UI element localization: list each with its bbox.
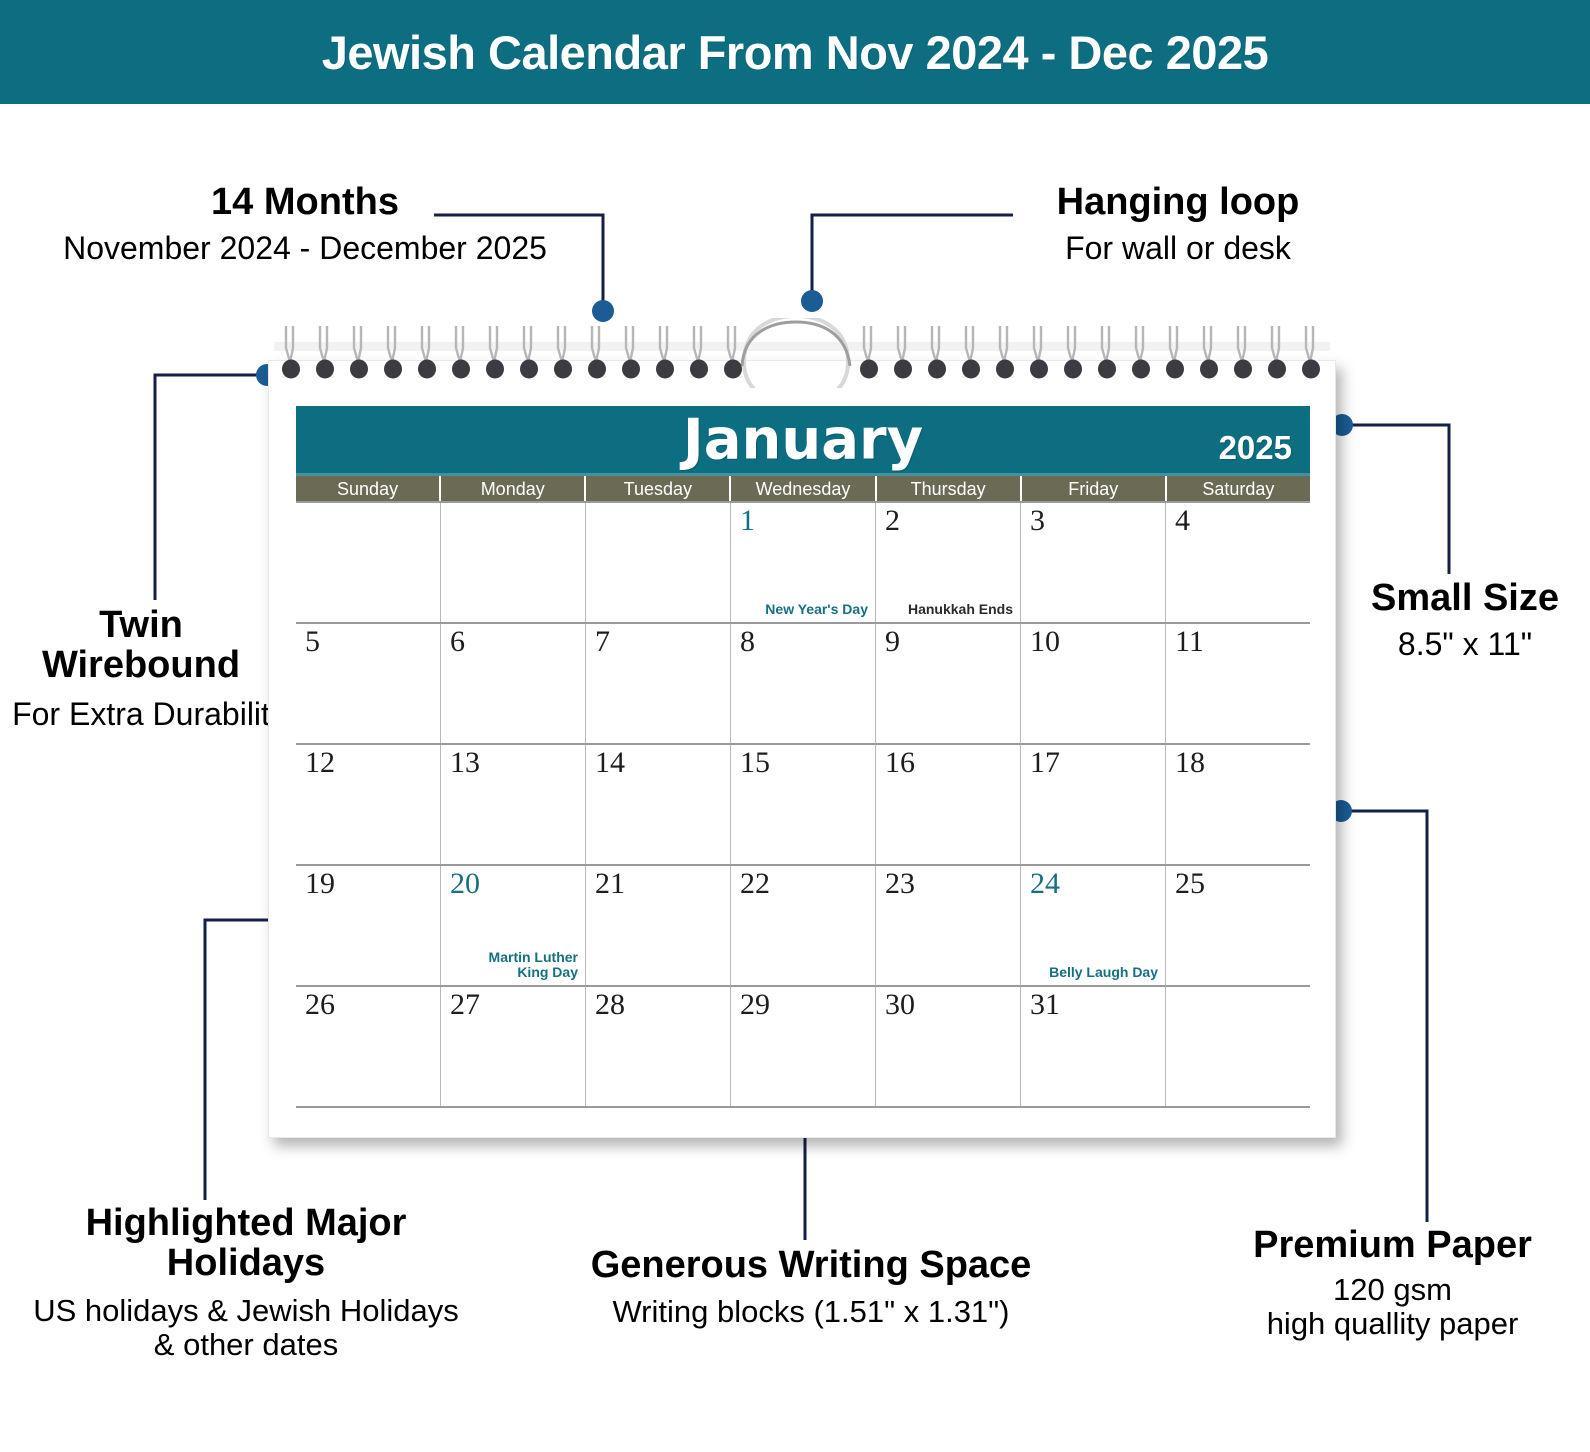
wire-ring-icon bbox=[860, 326, 878, 379]
calendar-day-cell-29[interactable]: 29 bbox=[731, 987, 876, 1106]
day-number: 16 bbox=[885, 748, 915, 778]
calendar-day-cell-13[interactable]: 13 bbox=[441, 745, 586, 864]
calendar-day-cell-empty[interactable] bbox=[586, 503, 731, 622]
day-number: 20 bbox=[450, 869, 480, 899]
wire-ring-icon bbox=[1268, 326, 1286, 379]
wire-ring-icon bbox=[962, 326, 980, 379]
wire-ring-icon bbox=[724, 326, 742, 379]
wire-ring-icon bbox=[588, 326, 606, 379]
wire-ring-icon bbox=[1302, 326, 1320, 379]
callout-hanging-loop-caption: Hanging loop bbox=[1018, 182, 1338, 222]
day-number: 26 bbox=[305, 990, 335, 1020]
callout-premium-paper-sub: 120 gsm high quallity paper bbox=[1195, 1273, 1590, 1341]
wire-ring-icon bbox=[1234, 326, 1252, 379]
calendar-day-cell-30[interactable]: 30 bbox=[876, 987, 1021, 1106]
calendar-day-cell-8[interactable]: 8 bbox=[731, 624, 876, 743]
calendar-day-cell-18[interactable]: 18 bbox=[1166, 745, 1310, 864]
wire-ring-icon bbox=[350, 326, 368, 379]
calendar-product: January 2025 SundayMondayTuesdayWednesda… bbox=[268, 318, 1336, 1138]
callout-highlighted-holidays-caption: Highlighted Major Holidays bbox=[0, 1203, 492, 1284]
day-number: 2 bbox=[885, 506, 900, 536]
callout-14-months-sub: November 2024 - December 2025 bbox=[10, 231, 600, 266]
calendar-day-cell-23[interactable]: 23 bbox=[876, 866, 1021, 985]
callout-hanging-loop-sub: For wall or desk bbox=[1018, 231, 1338, 266]
calendar-day-cell-26[interactable]: 26 bbox=[296, 987, 441, 1106]
day-number: 7 bbox=[595, 627, 610, 657]
callout-14-months: 14 Months November 2024 - December 2025 bbox=[10, 182, 600, 266]
calendar-day-cell-4[interactable]: 4 bbox=[1166, 503, 1310, 622]
calendar-day-cell-6[interactable]: 6 bbox=[441, 624, 586, 743]
day-number: 11 bbox=[1175, 627, 1204, 657]
calendar-year: 2025 bbox=[1219, 429, 1292, 467]
calendar-month-name: January bbox=[296, 407, 1310, 472]
day-number: 17 bbox=[1030, 748, 1060, 778]
wire-ring-icon bbox=[418, 326, 436, 379]
calendar-day-cell-empty[interactable] bbox=[441, 503, 586, 622]
calendar-day-cell-19[interactable]: 19 bbox=[296, 866, 441, 985]
leader-dot-loop bbox=[801, 290, 823, 312]
calendar-day-cell-11[interactable]: 11 bbox=[1166, 624, 1310, 743]
calendar-day-cell-1[interactable]: 1New Year's Day bbox=[731, 503, 876, 622]
weekday-header-thursday: Thursday bbox=[877, 476, 1022, 501]
hanging-loop-icon bbox=[742, 318, 850, 388]
wire-ring-icon bbox=[690, 326, 708, 379]
callout-twin-wirebound: Twin Wirebound For Extra Durabilit bbox=[0, 605, 282, 732]
wire-ring-icon bbox=[1030, 326, 1048, 379]
day-number: 4 bbox=[1175, 506, 1190, 536]
callout-writing-space-sub: Writing blocks (1.51" x 1.31") bbox=[525, 1295, 1097, 1329]
weekday-header-tuesday: Tuesday bbox=[586, 476, 731, 501]
day-number: 22 bbox=[740, 869, 770, 899]
twin-wire-binding bbox=[274, 318, 1330, 388]
calendar-day-cell-9[interactable]: 9 bbox=[876, 624, 1021, 743]
calendar-weekday-header: SundayMondayTuesdayWednesdayThursdayFrid… bbox=[296, 476, 1310, 501]
calendar-day-cell-16[interactable]: 16 bbox=[876, 745, 1021, 864]
callout-hanging-loop: Hanging loop For wall or desk bbox=[1018, 182, 1338, 266]
day-number: 8 bbox=[740, 627, 755, 657]
callout-small-size: Small Size 8.5" x 11" bbox=[1340, 578, 1590, 662]
weekday-header-wednesday: Wednesday bbox=[731, 476, 876, 501]
wire-ring-icon bbox=[316, 326, 334, 379]
calendar-day-cell-21[interactable]: 21 bbox=[586, 866, 731, 985]
day-event-label: Hanukkah Ends bbox=[881, 602, 1013, 618]
calendar-sheet: January 2025 SundayMondayTuesdayWednesda… bbox=[296, 406, 1310, 1118]
weekday-header-monday: Monday bbox=[441, 476, 586, 501]
calendar-day-cell-12[interactable]: 12 bbox=[296, 745, 441, 864]
day-number: 15 bbox=[740, 748, 770, 778]
callout-14-months-caption: 14 Months bbox=[10, 182, 600, 222]
day-number: 1 bbox=[740, 506, 755, 536]
weekday-header-friday: Friday bbox=[1022, 476, 1167, 501]
calendar-month-header: January 2025 bbox=[296, 406, 1310, 476]
day-number: 6 bbox=[450, 627, 465, 657]
wire-ring-icon bbox=[622, 326, 640, 379]
weekday-header-sunday: Sunday bbox=[296, 476, 441, 501]
day-number: 5 bbox=[305, 627, 320, 657]
weekday-header-saturday: Saturday bbox=[1167, 476, 1310, 501]
day-number: 13 bbox=[450, 748, 480, 778]
callout-small-size-caption: Small Size bbox=[1340, 578, 1590, 618]
callout-twin-wirebound-caption: Twin Wirebound bbox=[0, 605, 282, 686]
callout-premium-paper: Premium Paper 120 gsm high quallity pape… bbox=[1195, 1225, 1590, 1341]
calendar-day-cell-10[interactable]: 10 bbox=[1021, 624, 1166, 743]
day-number: 29 bbox=[740, 990, 770, 1020]
day-number: 3 bbox=[1030, 506, 1045, 536]
calendar-day-cell-7[interactable]: 7 bbox=[586, 624, 731, 743]
day-number: 18 bbox=[1175, 748, 1205, 778]
day-number: 27 bbox=[450, 990, 480, 1020]
callout-highlighted-holidays-sub: US holidays & Jewish Holidays & other da… bbox=[0, 1294, 492, 1362]
day-number: 14 bbox=[595, 748, 625, 778]
day-number: 28 bbox=[595, 990, 625, 1020]
calendar-day-cell-24[interactable]: 24Belly Laugh Day bbox=[1021, 866, 1166, 985]
wire-ring-icon bbox=[1098, 326, 1116, 379]
day-number: 19 bbox=[305, 869, 335, 899]
calendar-day-cell-25[interactable]: 25 bbox=[1166, 866, 1310, 985]
calendar-day-cell-22[interactable]: 22 bbox=[731, 866, 876, 985]
day-event-label: New Year's Day bbox=[736, 602, 868, 618]
day-number: 23 bbox=[885, 869, 915, 899]
callout-writing-space: Generous Writing Space Writing blocks (1… bbox=[525, 1245, 1097, 1329]
wire-ring-icon bbox=[656, 326, 674, 379]
day-number: 12 bbox=[305, 748, 335, 778]
callout-highlighted-holidays: Highlighted Major Holidays US holidays &… bbox=[0, 1203, 492, 1362]
day-number: 10 bbox=[1030, 627, 1060, 657]
calendar-day-cell-28[interactable]: 28 bbox=[586, 987, 731, 1106]
calendar-day-cell-20[interactable]: 20Martin Luther King Day bbox=[441, 866, 586, 985]
calendar-week-row: 1New Year's Day2Hanukkah Ends34 bbox=[296, 503, 1310, 624]
wire-ring-icon bbox=[894, 326, 912, 379]
wire-ring-icon bbox=[520, 326, 538, 379]
calendar-day-cell-3[interactable]: 3 bbox=[1021, 503, 1166, 622]
calendar-day-cell-27[interactable]: 27 bbox=[441, 987, 586, 1106]
wire-ring-icon bbox=[1132, 326, 1150, 379]
calendar-week-row: 262728293031 bbox=[296, 987, 1310, 1108]
day-number: 25 bbox=[1175, 869, 1205, 899]
day-number: 31 bbox=[1030, 990, 1060, 1020]
calendar-grid: 1New Year's Day2Hanukkah Ends34567891011… bbox=[296, 501, 1310, 1108]
day-number: 30 bbox=[885, 990, 915, 1020]
wire-ring-icon bbox=[1200, 326, 1218, 379]
calendar-day-cell-2[interactable]: 2Hanukkah Ends bbox=[876, 503, 1021, 622]
calendar-week-row: 567891011 bbox=[296, 624, 1310, 745]
wire-ring-icon bbox=[282, 326, 300, 379]
callout-premium-paper-caption: Premium Paper bbox=[1195, 1225, 1590, 1265]
calendar-day-cell-15[interactable]: 15 bbox=[731, 745, 876, 864]
calendar-week-row: 1920Martin Luther King Day21222324Belly … bbox=[296, 866, 1310, 987]
calendar-day-cell-empty[interactable] bbox=[1166, 987, 1310, 1106]
calendar-week-row: 12131415161718 bbox=[296, 745, 1310, 866]
day-number: 24 bbox=[1030, 869, 1060, 899]
wire-ring-icon bbox=[996, 326, 1014, 379]
day-event-label: Belly Laugh Day bbox=[1026, 965, 1158, 981]
wire-ring-icon bbox=[452, 326, 470, 379]
callout-twin-wirebound-sub: For Extra Durabilit bbox=[0, 697, 282, 732]
wire-ring-icon bbox=[1064, 326, 1082, 379]
calendar-day-cell-empty[interactable] bbox=[296, 503, 441, 622]
wire-ring-icon bbox=[928, 326, 946, 379]
wire-ring-icon bbox=[384, 326, 402, 379]
wire-ring-icon bbox=[486, 326, 504, 379]
day-number: 9 bbox=[885, 627, 900, 657]
calendar-day-cell-5[interactable]: 5 bbox=[296, 624, 441, 743]
calendar-day-cell-14[interactable]: 14 bbox=[586, 745, 731, 864]
callout-small-size-sub: 8.5" x 11" bbox=[1340, 627, 1590, 662]
calendar-day-cell-17[interactable]: 17 bbox=[1021, 745, 1166, 864]
day-event-label: Martin Luther King Day bbox=[446, 950, 578, 981]
calendar-day-cell-31[interactable]: 31 bbox=[1021, 987, 1166, 1106]
wire-ring-icon bbox=[554, 326, 572, 379]
wire-ring-icon bbox=[1166, 326, 1184, 379]
callout-writing-space-caption: Generous Writing Space bbox=[525, 1245, 1097, 1285]
day-number: 21 bbox=[595, 869, 625, 899]
